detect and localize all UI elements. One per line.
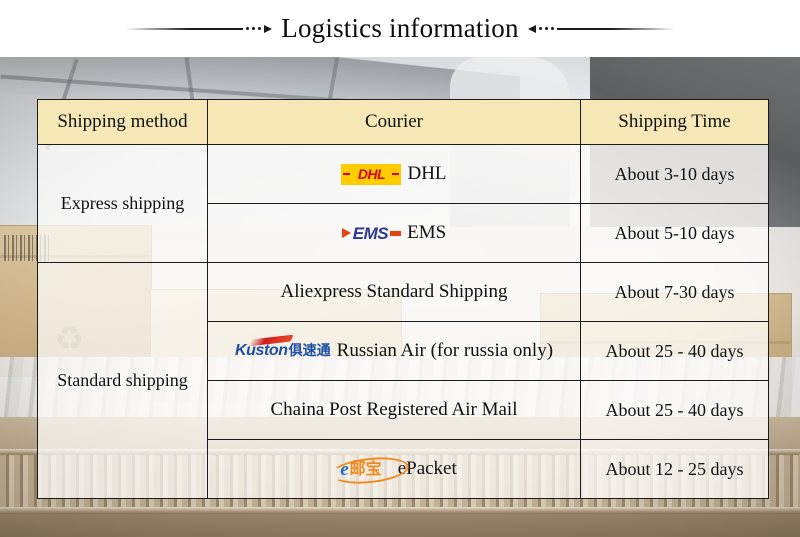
kuston-logo-cjk: 俱速通 [289,344,331,358]
ornament-line-right [557,28,675,30]
ems-bar-icon [390,231,401,236]
epacket-logo-icon: e 邮宝 [331,457,391,481]
ornament-dots-left [246,27,261,30]
column-header-courier: Courier [208,100,581,145]
kuston-logo-icon: Kuston 俱速通 [235,340,331,362]
kuston-logo-text: Kuston [235,343,288,359]
epacket-logo-cjk: 邮宝 [350,461,382,477]
ems-chevron-icon [342,228,351,238]
ems-logo-text: EMS [353,225,388,242]
courier-label: EMS [407,222,446,244]
ems-logo-icon: EMS [342,223,401,243]
courier-cell-ems: EMS EMS [208,204,581,263]
epacket-logo-e: e [335,460,348,479]
ornament-line-left [125,28,243,30]
logistics-table-wrapper: Shipping method Courier Shipping Time Ex… [37,99,768,499]
courier-label: Aliexpress Standard Shipping [281,281,508,303]
table-body: Express shipping DHL DHL About 3-10 days [38,145,769,499]
column-header-shipping-method: Shipping method [38,100,208,145]
courier-inner: Aliexpress Standard Shipping [212,281,576,303]
courier-label: Russian Air (for russia only) [337,340,553,362]
table-header-row: Shipping method Courier Shipping Time [38,100,769,145]
ornament-arrow-right-icon [264,25,272,33]
courier-label: DHL [407,163,446,185]
dhl-logo-text: DHL [358,167,385,181]
time-cell: About 25 - 40 days [581,322,769,381]
courier-inner: e 邮宝 ePacket [212,457,576,481]
table-row: Express shipping DHL DHL About 3-10 days [38,145,769,204]
ornament-dots-right [539,27,554,30]
time-cell: About 3-10 days [581,145,769,204]
page-title: Logistics information [272,15,527,42]
table-header: Shipping method Courier Shipping Time [38,100,769,145]
time-cell: About 12 - 25 days [581,440,769,499]
courier-cell-epacket: e 邮宝 ePacket [208,440,581,499]
time-cell: About 7-30 days [581,263,769,322]
title-ornament-right [528,19,675,39]
table-row: Standard shipping Aliexpress Standard Sh… [38,263,769,322]
time-cell: About 25 - 40 days [581,381,769,440]
courier-inner: Kuston 俱速通 Russian Air (for russia only) [212,340,576,362]
logistics-table: Shipping method Courier Shipping Time Ex… [37,99,769,499]
time-cell: About 5-10 days [581,204,769,263]
courier-label: Chaina Post Registered Air Mail [271,399,518,421]
title-ornament-left [125,19,272,39]
column-header-shipping-time: Shipping Time [581,100,769,145]
logistics-information-banner: Logistics information ♻ ♻ [0,0,800,537]
courier-inner: EMS EMS [212,222,576,244]
dhl-logo-icon: DHL [341,164,401,185]
courier-cell-aliexpress: Aliexpress Standard Shipping [208,263,581,322]
courier-cell-dhl: DHL DHL [208,145,581,204]
courier-cell-russian-air: Kuston 俱速通 Russian Air (for russia only) [208,322,581,381]
method-cell-standard: Standard shipping [38,263,208,499]
courier-inner: DHL DHL [212,163,576,185]
page-title-bar: Logistics information [0,0,800,57]
courier-inner: Chaina Post Registered Air Mail [212,399,576,421]
courier-cell-china-post: Chaina Post Registered Air Mail [208,381,581,440]
method-cell-express: Express shipping [38,145,208,263]
ornament-arrow-left-icon [528,25,536,33]
